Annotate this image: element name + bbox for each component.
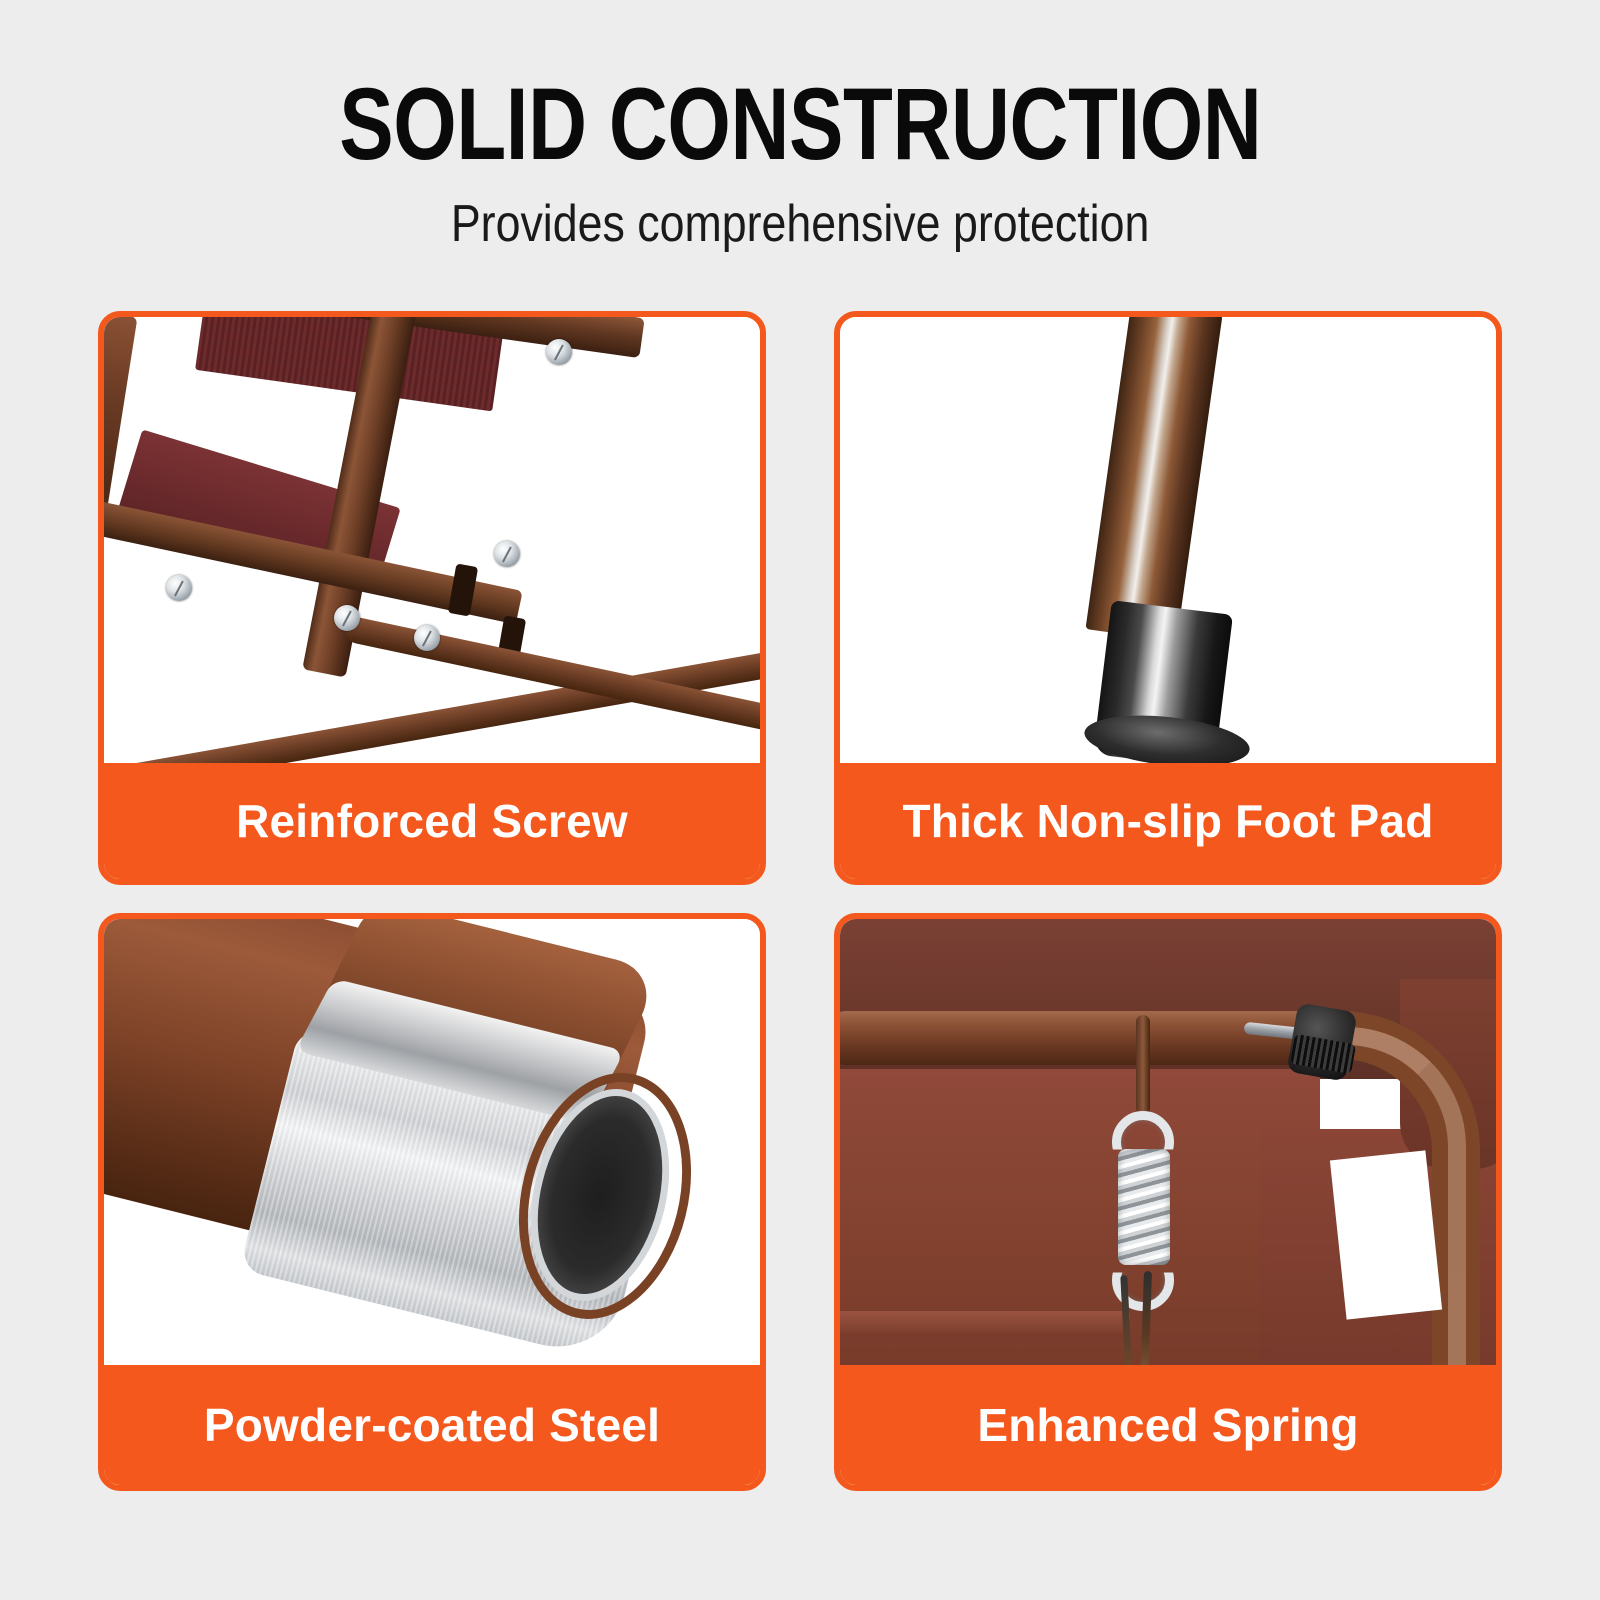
tube-leg [1085,317,1222,642]
hook-eyelet [1136,1015,1150,1115]
fabric-seam [840,1311,1130,1333]
panel-caption-reinforced-screw: Reinforced Screw [104,763,760,879]
infographic-page: SOLID CONSTRUCTION Provides comprehensiv… [0,0,1600,1600]
enhanced-spring-photo [840,919,1496,1365]
feature-panel-grid: Reinforced Screw Thick Non-slip Foot Pad… [98,311,1502,1491]
screw-icon [334,605,360,631]
panel-caption-thick-non-slip-foot-pad: Thick Non-slip Foot Pad [840,763,1496,879]
screw-icon [546,339,572,365]
feature-panel-reinforced-screw[interactable]: Reinforced Screw [98,311,766,885]
panel-caption-powder-coated-steel: Powder-coated Steel [104,1365,760,1485]
screw-icon [166,575,192,601]
reinforced-screw-photo [104,317,760,763]
page-subtitle: Provides comprehensive protection [451,194,1149,254]
frame-top-tube [840,1011,1340,1065]
page-title: SOLID CONSTRUCTION [339,72,1261,176]
spring-coil [1118,1149,1170,1265]
header: SOLID CONSTRUCTION Provides comprehensiv… [0,0,1600,290]
foot-pad-photo [840,317,1496,763]
feature-panel-thick-non-slip-foot-pad[interactable]: Thick Non-slip Foot Pad [834,311,1502,885]
powder-coated-steel-photo [104,919,760,1365]
screw-icon [494,541,520,567]
background-gap [1330,1150,1442,1319]
feature-panel-powder-coated-steel[interactable]: Powder-coated Steel [98,913,766,1491]
feature-panel-enhanced-spring[interactable]: Enhanced Spring [834,913,1502,1491]
screw-icon [414,625,440,651]
panel-caption-enhanced-spring: Enhanced Spring [840,1365,1496,1485]
